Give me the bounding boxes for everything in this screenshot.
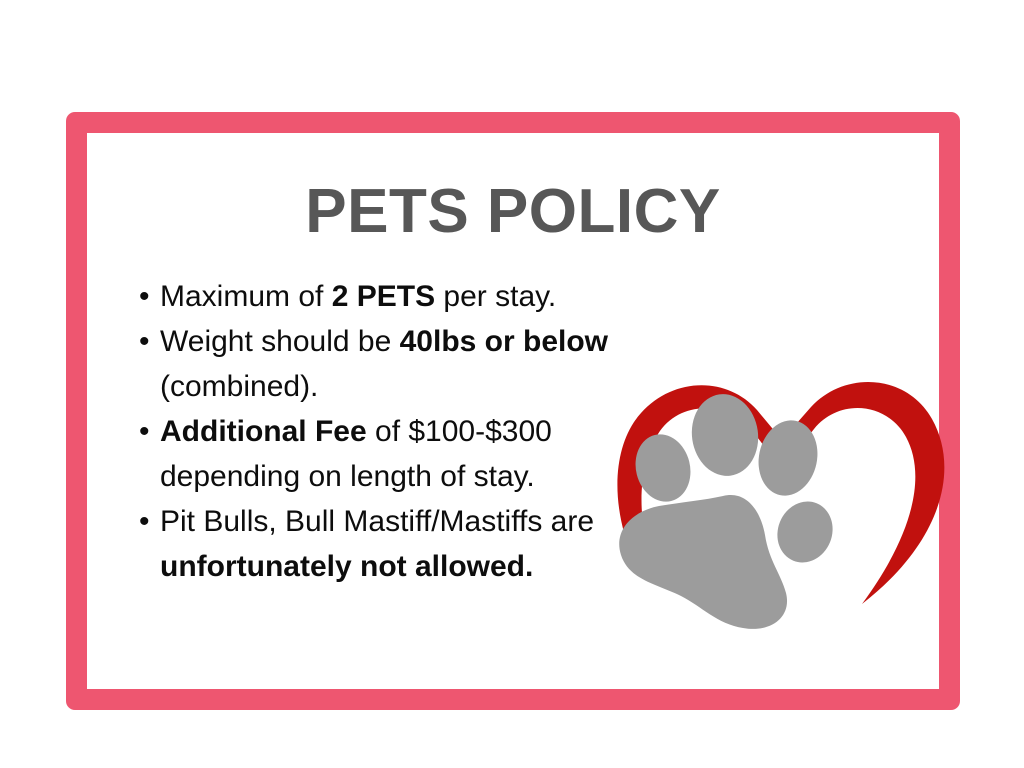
policy-card-inner: PETS POLICY • Maximum of 2 PETS per stay… [87,133,939,689]
bullet-icon: • [139,499,150,544]
heart-paw-icon [615,318,945,628]
policy-item-text: Pit Bulls, Bull Mastiff/Mastiffs are unf… [160,505,594,583]
policy-item-breed-restriction: • Pit Bulls, Bull Mastiff/Mastiffs are u… [137,499,637,589]
policy-card: PETS POLICY • Maximum of 2 PETS per stay… [66,112,960,710]
bullet-icon: • [139,319,150,364]
policy-item-max-pets: • Maximum of 2 PETS per stay. [137,274,637,319]
paw-main-pad [619,495,787,629]
policy-item-weight-limit: • Weight should be 40lbs or below (combi… [137,319,637,409]
policy-item-text: Additional Fee of $100-$300 depending on… [160,415,552,493]
paw-toe-outer-right [768,493,841,571]
policy-item-text: Maximum of 2 PETS per stay. [160,280,556,313]
policy-item-additional-fee: • Additional Fee of $100-$300 depending … [137,409,637,499]
bullet-icon: • [139,274,150,319]
policy-list: • Maximum of 2 PETS per stay. • Weight s… [137,274,637,589]
policy-item-text: Weight should be 40lbs or below (combine… [160,325,608,403]
slide-canvas: PETS POLICY • Maximum of 2 PETS per stay… [0,0,1024,768]
bullet-icon: • [139,409,150,454]
page-title: PETS POLICY [87,181,939,243]
